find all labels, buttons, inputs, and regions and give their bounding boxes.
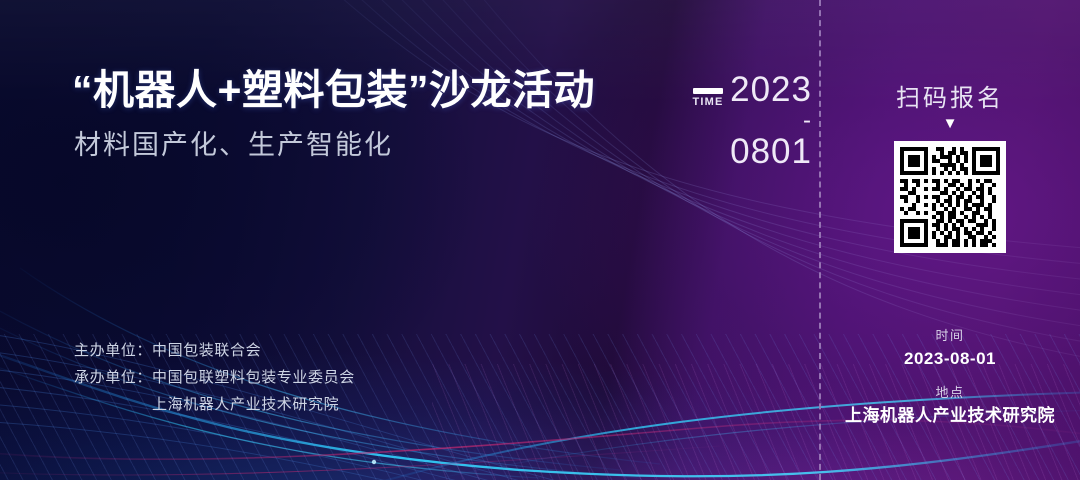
date-month-day: 0801: [702, 132, 812, 172]
date-separator: -: [702, 110, 812, 132]
info-value-time: 2023-08-01: [820, 346, 1080, 371]
qr-code-icon: [900, 147, 1000, 247]
event-banner: “机器人+塑料包装”沙龙活动 材料国产化、生产智能化 TIME 2023 - 0…: [0, 0, 1080, 480]
organizer-line-coorganizer: 承办单位：中国包联塑料包装专业委员会: [74, 364, 355, 391]
event-info-block: 时间 2023-08-01 地点 上海机器人产业技术研究院: [820, 326, 1080, 428]
page-subtitle: 材料国产化、生产智能化: [74, 128, 692, 163]
chevron-down-icon: ▼: [820, 116, 1080, 131]
qr-code[interactable]: [894, 141, 1006, 253]
date-year: 2023: [702, 70, 812, 110]
page-title: “机器人+塑料包装”沙龙活动: [72, 66, 692, 114]
organizer-line-institute: 上海机器人产业技术研究院: [74, 391, 355, 418]
organizers-block: 主办单位：中国包装联合会 承办单位：中国包联塑料包装专业委员会 上海机器人产业技…: [74, 337, 355, 418]
info-value-venue: 上海机器人产业技术研究院: [820, 403, 1080, 428]
headline-block: “机器人+塑料包装”沙龙活动 材料国产化、生产智能化: [72, 66, 692, 163]
organizer-line-host: 主办单位：中国包装联合会: [74, 337, 355, 364]
event-date-large: 2023 - 0801: [702, 70, 812, 172]
info-label-venue: 地点: [820, 383, 1080, 403]
info-label-time: 时间: [820, 326, 1080, 346]
qr-section-title: 扫码报名: [820, 78, 1080, 113]
